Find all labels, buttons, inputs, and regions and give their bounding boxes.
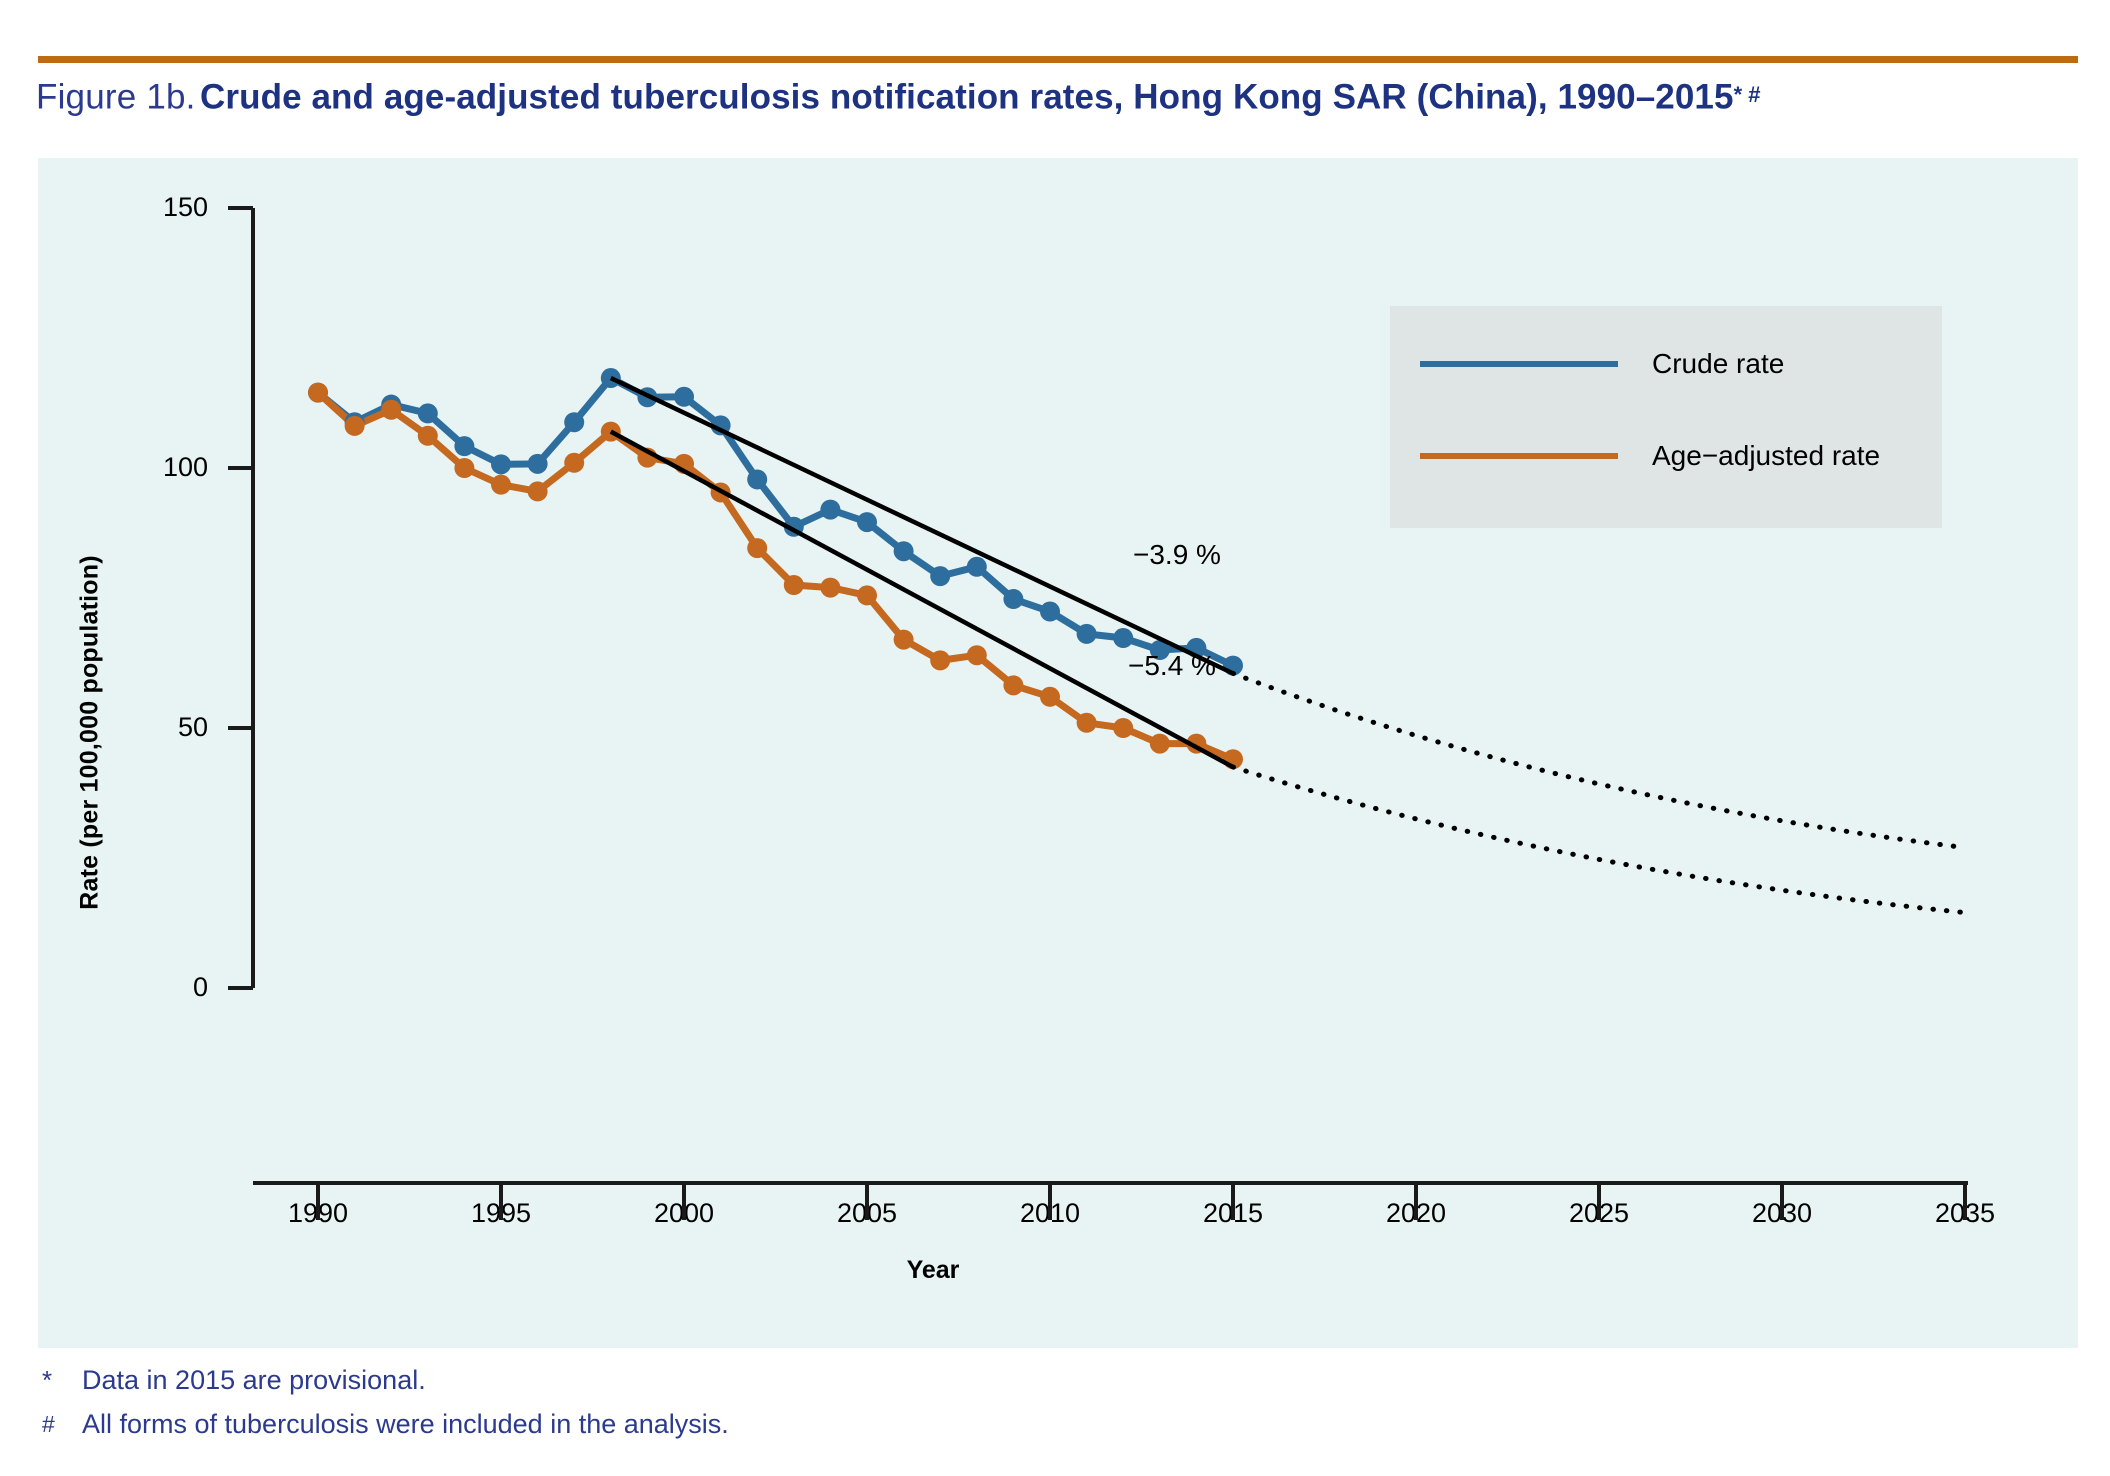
annotation-ageadjusted-trend: −5.4 % bbox=[1128, 652, 1216, 680]
trend-line-crude-rate bbox=[611, 378, 1233, 673]
data-point[interactable] bbox=[308, 383, 328, 403]
data-point[interactable] bbox=[930, 650, 950, 670]
data-point[interactable] bbox=[894, 630, 914, 650]
footnote-text-hash: All forms of tuberculosis were included … bbox=[82, 1402, 729, 1446]
data-point[interactable] bbox=[1113, 628, 1133, 648]
data-point[interactable] bbox=[784, 575, 804, 595]
data-point[interactable] bbox=[930, 566, 950, 586]
header-rule bbox=[38, 56, 2078, 63]
footnote-text-asterisk: Data in 2015 are provisional. bbox=[82, 1358, 426, 1402]
annotation-crude-trend: −3.9 % bbox=[1133, 541, 1221, 569]
data-point[interactable] bbox=[820, 578, 840, 598]
data-point[interactable] bbox=[820, 500, 840, 520]
data-point[interactable] bbox=[967, 557, 987, 577]
data-point[interactable] bbox=[345, 416, 365, 436]
data-point[interactable] bbox=[1077, 713, 1097, 733]
data-point[interactable] bbox=[1040, 687, 1060, 707]
figure-title-block: Figure 1b. Crude and age-adjusted tuberc… bbox=[36, 72, 2076, 118]
data-point[interactable] bbox=[381, 400, 401, 420]
trend-line-age-adjusted-rate bbox=[611, 432, 1233, 767]
footnote-row-asterisk: * Data in 2015 are provisional. bbox=[42, 1358, 1642, 1402]
x-axis-ticks bbox=[318, 1183, 1965, 1220]
footnote-mark-asterisk: * bbox=[42, 1358, 82, 1402]
data-point[interactable] bbox=[967, 645, 987, 665]
projection-lines-group bbox=[1233, 673, 1965, 912]
data-point[interactable] bbox=[1150, 734, 1170, 754]
footnote-mark-hash: # bbox=[42, 1402, 82, 1446]
data-point[interactable] bbox=[601, 368, 621, 388]
page-title: Crude and age-adjusted tuberculosis noti… bbox=[200, 77, 1734, 116]
data-point[interactable] bbox=[418, 403, 438, 423]
data-point[interactable] bbox=[747, 538, 767, 558]
legend-label-age-adjusted-rate: Age−adjusted rate bbox=[1652, 436, 1880, 476]
data-point[interactable] bbox=[528, 481, 548, 501]
title-superscripts: * # bbox=[1734, 82, 1761, 107]
legend-item-crude-rate[interactable]: Crude rate bbox=[1390, 344, 1942, 384]
figure-page: Figure 1b. Crude and age-adjusted tuberc… bbox=[0, 0, 2110, 1476]
data-series-group bbox=[308, 368, 1243, 769]
data-point[interactable] bbox=[528, 454, 548, 474]
data-point[interactable] bbox=[1040, 602, 1060, 622]
projection-line-crude-rate bbox=[1233, 673, 1965, 847]
trend-lines-group bbox=[611, 378, 1233, 767]
projection-line-age-adjusted-rate bbox=[1233, 767, 1965, 913]
data-point[interactable] bbox=[491, 475, 511, 495]
data-point[interactable] bbox=[674, 387, 694, 407]
chart-panel: Rate (per 100,000 population) Year 150 1… bbox=[38, 158, 2078, 1348]
data-point[interactable] bbox=[857, 512, 877, 532]
data-point[interactable] bbox=[491, 454, 511, 474]
y-axis-ticks bbox=[228, 208, 253, 988]
data-point[interactable] bbox=[1003, 675, 1023, 695]
data-point[interactable] bbox=[894, 541, 914, 561]
chart-legend: Crude rate Age−adjusted rate bbox=[1390, 306, 1942, 528]
footnote-row-hash: # All forms of tuberculosis were include… bbox=[42, 1402, 1642, 1446]
data-point[interactable] bbox=[454, 458, 474, 478]
data-point[interactable] bbox=[747, 469, 767, 489]
data-point[interactable] bbox=[564, 453, 584, 473]
legend-label-crude-rate: Crude rate bbox=[1652, 344, 1784, 384]
data-point[interactable] bbox=[857, 585, 877, 605]
footnotes: * Data in 2015 are provisional. # All fo… bbox=[42, 1358, 1642, 1446]
figure-label: Figure 1b. bbox=[36, 77, 196, 116]
data-point[interactable] bbox=[454, 436, 474, 456]
legend-swatch-age-adjusted-rate bbox=[1420, 453, 1618, 459]
legend-item-age-adjusted-rate[interactable]: Age−adjusted rate bbox=[1390, 436, 1942, 476]
data-point[interactable] bbox=[1003, 589, 1023, 609]
data-point[interactable] bbox=[1113, 718, 1133, 738]
legend-swatch-crude-rate bbox=[1420, 361, 1618, 367]
data-point[interactable] bbox=[1077, 624, 1097, 644]
data-point[interactable] bbox=[564, 412, 584, 432]
data-point[interactable] bbox=[418, 426, 438, 446]
